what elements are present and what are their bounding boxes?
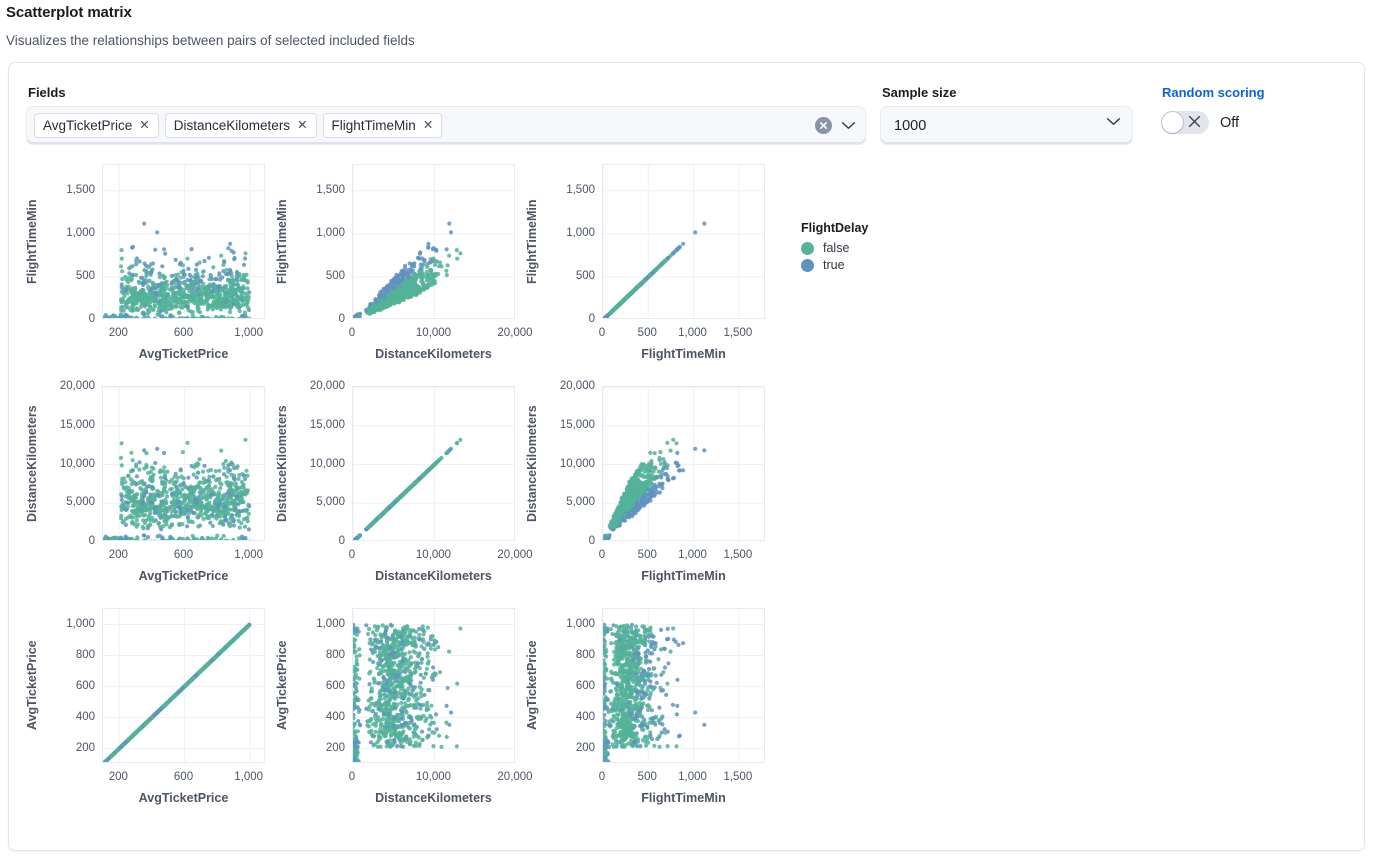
y-axis-title: FlightTimeMin xyxy=(525,164,539,319)
y-axis-tick: 200 xyxy=(326,742,345,754)
legend-label: false xyxy=(823,241,849,255)
y-axis-tick: 0 xyxy=(589,535,595,547)
field-pill-label: FlightTimeMin xyxy=(332,118,416,133)
x-axis-tick: 10,000 xyxy=(416,549,451,561)
chevron-down-icon[interactable] xyxy=(1106,117,1121,126)
y-axis-tick: 800 xyxy=(76,649,95,661)
x-axis-tick: 1,000 xyxy=(234,549,263,561)
y-axis-title: AvgTicketPrice xyxy=(275,608,289,763)
x-axis-tick: 10,000 xyxy=(416,771,451,783)
x-axis-tick: 600 xyxy=(174,327,193,339)
scatterplot-matrix-panel: Fields AvgTicketPrice ✕ DistanceKilomete… xyxy=(8,62,1365,851)
random-scoring-control: Random scoring Off xyxy=(1134,85,1265,134)
x-axis-title: AvgTicketPrice xyxy=(139,347,229,361)
x-axis-title: FlightTimeMin xyxy=(641,347,726,361)
x-axis-tick: 0 xyxy=(349,771,355,783)
matrix-row: AvgTicketPrice2004006008001,0002006001,0… xyxy=(17,600,1364,822)
y-axis-tick: 0 xyxy=(339,535,345,547)
matrix-row: DistanceKilometers05,00010,00015,00020,0… xyxy=(17,378,1364,600)
matrix-row: FlightTimeMin05001,0001,5002006001,000Av… xyxy=(17,156,1364,378)
field-pill[interactable]: DistanceKilometers ✕ xyxy=(165,113,317,138)
x-axis-tick: 500 xyxy=(638,549,657,561)
plot-area[interactable] xyxy=(352,608,515,763)
legend-item[interactable]: true xyxy=(801,258,868,272)
y-axis-tick: 800 xyxy=(326,649,345,661)
y-axis-tick: 500 xyxy=(576,270,595,282)
plot-area[interactable] xyxy=(602,386,765,541)
x-axis-tick: 0 xyxy=(349,549,355,561)
remove-field-icon[interactable]: ✕ xyxy=(297,119,307,132)
matrix-cell-FlightTimeMin-vs-FlightTimeMin[interactable]: FlightTimeMin05001,0001,50005001,0001,50… xyxy=(517,156,767,378)
x-axis-tick: 500 xyxy=(638,327,657,339)
y-axis-tick: 1,000 xyxy=(66,227,95,239)
fields-control: Fields AvgTicketPrice ✕ DistanceKilomete… xyxy=(9,85,881,144)
page-subtitle: Visualizes the relationships between pai… xyxy=(6,33,1373,48)
y-axis-title: FlightTimeMin xyxy=(275,164,289,319)
chevron-down-icon[interactable] xyxy=(841,121,856,130)
y-axis-title: DistanceKilometers xyxy=(275,386,289,541)
y-axis-tick: 20,000 xyxy=(560,380,595,392)
page-header: Scatterplot matrix Visualizes the relati… xyxy=(0,0,1373,48)
fields-combobox[interactable]: AvgTicketPrice ✕ DistanceKilometers ✕ Fl… xyxy=(27,107,865,144)
y-axis-tick: 15,000 xyxy=(60,419,95,431)
x-axis-title: FlightTimeMin xyxy=(641,569,726,583)
remove-field-icon[interactable]: ✕ xyxy=(423,119,433,132)
y-axis-tick: 20,000 xyxy=(60,380,95,392)
field-pill-label: AvgTicketPrice xyxy=(43,118,132,133)
y-axis-title: DistanceKilometers xyxy=(525,386,539,541)
y-axis-title: FlightTimeMin xyxy=(25,164,39,319)
random-scoring-label[interactable]: Random scoring xyxy=(1162,85,1265,100)
fields-label: Fields xyxy=(28,85,881,100)
y-axis-tick: 500 xyxy=(326,270,345,282)
x-axis-title: DistanceKilometers xyxy=(375,791,492,805)
random-scoring-state: Off xyxy=(1220,115,1239,131)
legend-item[interactable]: false xyxy=(801,241,868,255)
y-axis-tick: 0 xyxy=(589,313,595,325)
y-axis-tick: 400 xyxy=(326,711,345,723)
x-axis-tick: 1,000 xyxy=(234,771,263,783)
y-axis-tick: 600 xyxy=(76,680,95,692)
field-pill[interactable]: FlightTimeMin ✕ xyxy=(323,113,443,138)
x-axis-title: DistanceKilometers xyxy=(375,569,492,583)
y-axis-tick: 10,000 xyxy=(60,458,95,470)
toggle-off-icon xyxy=(1188,115,1201,133)
y-axis-tick: 10,000 xyxy=(310,458,345,470)
y-axis-tick: 1,000 xyxy=(566,618,595,630)
y-axis-tick: 800 xyxy=(576,649,595,661)
y-axis-tick: 5,000 xyxy=(316,496,345,508)
sample-size-label: Sample size xyxy=(882,85,1134,100)
plot-area[interactable] xyxy=(102,386,265,541)
y-axis-tick: 400 xyxy=(576,711,595,723)
y-axis-tick: 400 xyxy=(76,711,95,723)
plot-area[interactable] xyxy=(352,386,515,541)
x-axis-tick: 1,500 xyxy=(723,327,752,339)
x-axis-tick: 1,000 xyxy=(234,327,263,339)
y-axis-title: AvgTicketPrice xyxy=(25,608,39,763)
y-axis-tick: 0 xyxy=(89,535,95,547)
x-axis-tick: 10,000 xyxy=(416,327,451,339)
x-axis-tick: 200 xyxy=(109,771,128,783)
x-axis-tick: 1,500 xyxy=(723,771,752,783)
plot-area[interactable] xyxy=(102,164,265,319)
y-axis-tick: 1,500 xyxy=(316,184,345,196)
sample-size-value: 1000 xyxy=(894,118,926,134)
matrix-cell-AvgTicketPrice-vs-AvgTicketPrice[interactable]: AvgTicketPrice2004006008001,0002006001,0… xyxy=(17,600,267,822)
y-axis-tick: 200 xyxy=(76,742,95,754)
sample-size-control: Sample size 1000 xyxy=(881,85,1134,144)
matrix-cell-DistanceKilometers-vs-DistanceKilometers[interactable]: DistanceKilometers05,00010,00015,00020,0… xyxy=(267,378,517,600)
scatterplot-matrix: FlightTimeMin05001,0001,5002006001,000Av… xyxy=(9,144,1364,822)
x-axis-tick: 1,500 xyxy=(723,549,752,561)
x-axis-tick: 500 xyxy=(638,771,657,783)
legend: FlightDelay false true xyxy=(801,221,868,275)
remove-field-icon[interactable]: ✕ xyxy=(139,119,149,132)
x-axis-tick: 1,000 xyxy=(678,549,707,561)
x-axis-tick: 0 xyxy=(599,771,605,783)
y-axis-tick: 1,000 xyxy=(316,227,345,239)
matrix-cell-DistanceKilometers-vs-AvgTicketPrice[interactable]: AvgTicketPrice2004006008001,000010,00020… xyxy=(267,600,517,822)
matrix-cell-FlightTimeMin-vs-AvgTicketPrice[interactable]: AvgTicketPrice2004006008001,00005001,000… xyxy=(517,600,767,822)
y-axis-title: DistanceKilometers xyxy=(25,386,39,541)
random-scoring-switch-row: Off xyxy=(1161,107,1265,134)
x-axis-title: FlightTimeMin xyxy=(641,791,726,805)
x-axis-title: DistanceKilometers xyxy=(375,347,492,361)
y-axis-tick: 200 xyxy=(576,742,595,754)
legend-label: true xyxy=(823,258,845,272)
y-axis-tick: 1,000 xyxy=(66,618,95,630)
y-axis-tick: 0 xyxy=(339,313,345,325)
y-axis-tick: 1,500 xyxy=(66,184,95,196)
plot-area[interactable] xyxy=(352,164,515,319)
y-axis-tick: 500 xyxy=(76,270,95,282)
x-axis-tick: 0 xyxy=(599,327,605,339)
y-axis-tick: 600 xyxy=(326,680,345,692)
combobox-actions xyxy=(815,107,856,144)
y-axis-tick: 1,500 xyxy=(566,184,595,196)
sample-size-select[interactable]: 1000 xyxy=(881,107,1132,144)
controls-row: Fields AvgTicketPrice ✕ DistanceKilomete… xyxy=(9,63,1364,144)
toggle-knob xyxy=(1162,112,1183,133)
legend-title: FlightDelay xyxy=(801,221,868,235)
x-axis-tick: 600 xyxy=(174,771,193,783)
x-axis-tick: 200 xyxy=(109,549,128,561)
x-axis-tick: 200 xyxy=(109,327,128,339)
x-axis-title: AvgTicketPrice xyxy=(139,791,229,805)
x-axis-tick: 0 xyxy=(599,549,605,561)
legend-swatch-true xyxy=(801,259,814,272)
y-axis-title: AvgTicketPrice xyxy=(525,608,539,763)
matrix-cell-AvgTicketPrice-vs-FlightTimeMin[interactable]: FlightTimeMin05001,0001,5002006001,000Av… xyxy=(17,156,267,378)
x-axis-tick: 1,000 xyxy=(678,771,707,783)
field-pill-label: DistanceKilometers xyxy=(174,118,290,133)
x-axis-tick: 0 xyxy=(349,327,355,339)
matrix-cell-DistanceKilometers-vs-FlightTimeMin[interactable]: FlightTimeMin05001,0001,500010,00020,000… xyxy=(267,156,517,378)
legend-swatch-false xyxy=(801,242,814,255)
random-scoring-toggle[interactable] xyxy=(1161,111,1209,134)
y-axis-tick: 1,000 xyxy=(566,227,595,239)
y-axis-tick: 20,000 xyxy=(310,380,345,392)
y-axis-tick: 1,000 xyxy=(316,618,345,630)
clear-all-icon[interactable] xyxy=(815,117,832,134)
matrix-cell-FlightTimeMin-vs-DistanceKilometers[interactable]: DistanceKilometers05,00010,00015,00020,0… xyxy=(517,378,767,600)
x-axis-title: AvgTicketPrice xyxy=(139,569,229,583)
y-axis-tick: 600 xyxy=(576,680,595,692)
field-pill[interactable]: AvgTicketPrice ✕ xyxy=(34,113,159,138)
y-axis-tick: 5,000 xyxy=(566,496,595,508)
y-axis-tick: 5,000 xyxy=(66,496,95,508)
x-axis-tick: 600 xyxy=(174,549,193,561)
y-axis-tick: 15,000 xyxy=(310,419,345,431)
page-title: Scatterplot matrix xyxy=(6,4,1373,21)
plot-area[interactable] xyxy=(102,608,265,763)
y-axis-tick: 0 xyxy=(89,313,95,325)
x-axis-tick: 1,000 xyxy=(678,327,707,339)
y-axis-tick: 15,000 xyxy=(560,419,595,431)
y-axis-tick: 10,000 xyxy=(560,458,595,470)
matrix-cell-AvgTicketPrice-vs-DistanceKilometers[interactable]: DistanceKilometers05,00010,00015,00020,0… xyxy=(17,378,267,600)
plot-area[interactable] xyxy=(602,608,765,763)
plot-area[interactable] xyxy=(602,164,765,319)
